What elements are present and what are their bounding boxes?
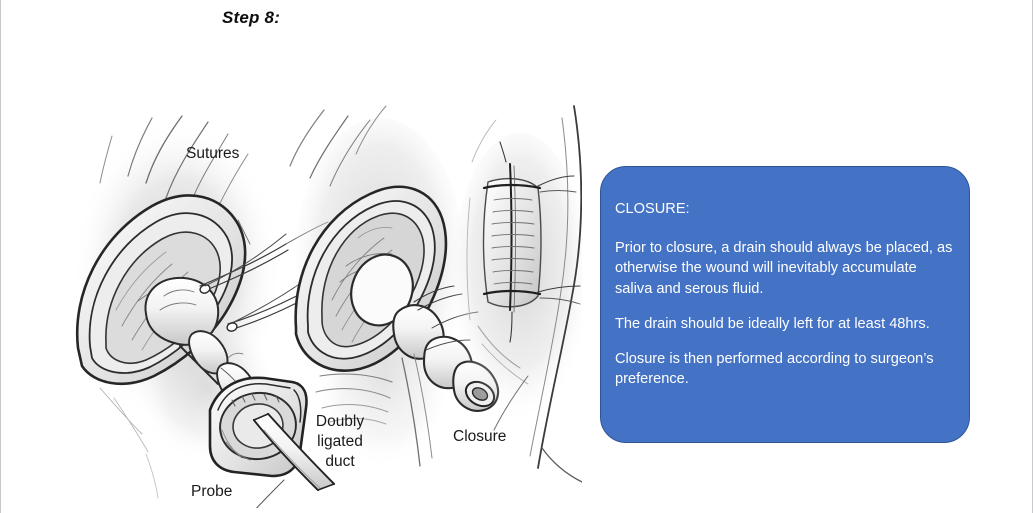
closure-callout-box: CLOSURE: Prior to closure, a drain shoul… (600, 166, 970, 443)
callout-paragraph-3: Closure is then performed according to s… (615, 349, 953, 390)
label-probe: Probe (191, 483, 232, 500)
label-closure: Closure (453, 428, 506, 445)
slide-left-border (0, 0, 1, 513)
callout-paragraph-1: Prior to closure, a drain should always … (615, 238, 953, 300)
surgical-illustration: Sutures Probe Doubly ligated duct Closur… (42, 58, 582, 508)
panel-closure (452, 106, 582, 482)
slide-canvas: Step 8: (0, 0, 1033, 513)
svg-text:ligated: ligated (317, 433, 363, 450)
callout-body: CLOSURE: Prior to closure, a drain shoul… (615, 199, 953, 390)
label-sutures: Sutures (186, 145, 240, 162)
svg-text:Doubly: Doubly (316, 413, 364, 430)
svg-text:duct: duct (325, 453, 355, 470)
callout-heading: CLOSURE: (615, 199, 953, 220)
page-title: Step 8: (222, 8, 280, 28)
label-doubly-ligated-duct: Doubly ligated duct (316, 413, 364, 470)
stoma-flap (210, 378, 334, 490)
callout-paragraph-2: The drain should be ideally left for at … (615, 314, 953, 335)
